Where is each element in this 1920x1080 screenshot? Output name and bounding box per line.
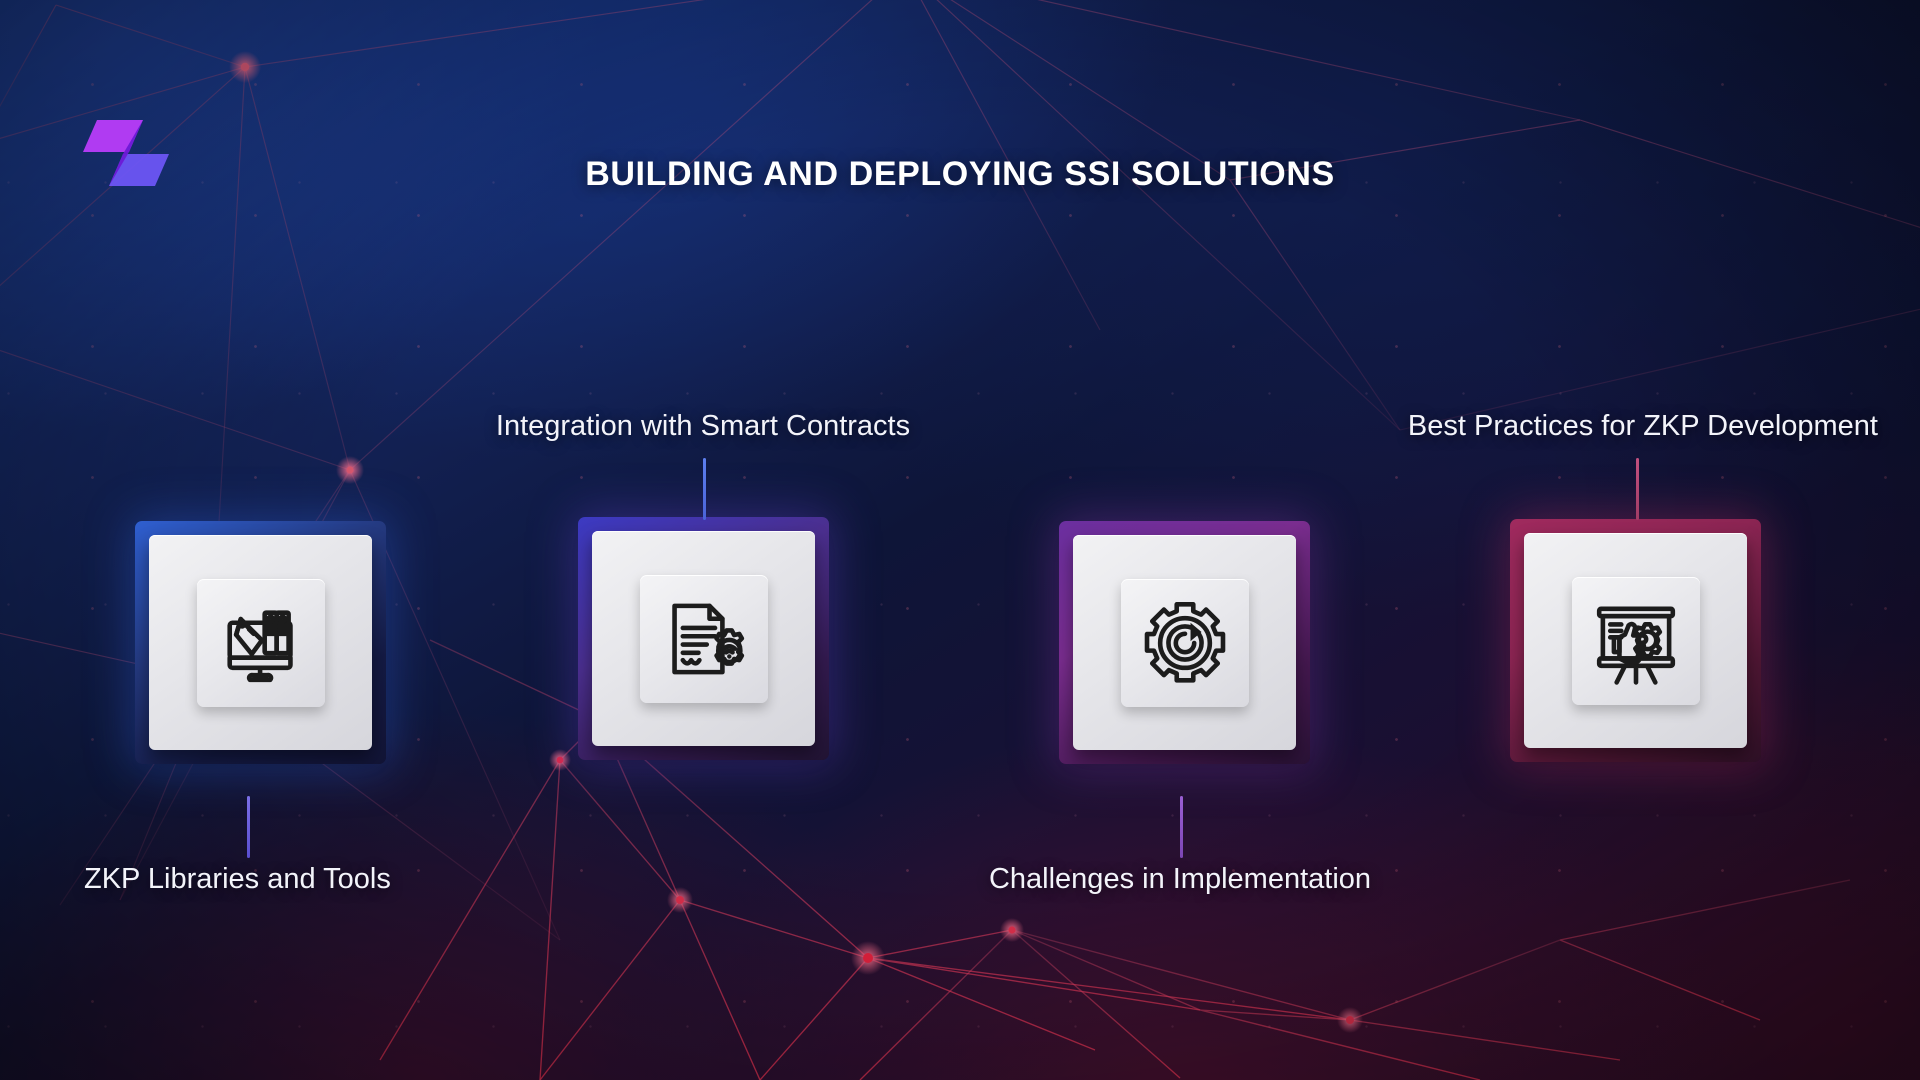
connector-line-integration-smart-contracts xyxy=(703,458,706,520)
connector-line-challenges-implementation xyxy=(1180,796,1183,858)
card-icon-tile xyxy=(197,579,325,707)
feature-card-best-practices-for-zkp-development[interactable] xyxy=(1510,519,1761,762)
feature-label-zkp-libraries-and-tools: ZKP Libraries and Tools xyxy=(84,863,391,896)
feature-label-integration-with-smart-contracts: Integration with Smart Contracts xyxy=(496,410,910,443)
card-inner-panel xyxy=(1524,533,1747,748)
slide-canvas: BUILDING AND DEPLOYING SSI SOLUTIONS xyxy=(0,0,1920,1080)
document-gear-wifi-icon xyxy=(658,593,750,685)
card-inner-panel xyxy=(149,535,372,750)
card-icon-tile xyxy=(1572,577,1700,705)
feature-label-best-practices-for-zkp-development: Best Practices for ZKP Development xyxy=(1408,410,1878,443)
connector-line-zkp-libraries xyxy=(247,796,250,858)
card-inner-panel xyxy=(1073,535,1296,750)
card-inner-panel xyxy=(592,531,815,746)
feature-card-challenges-in-implementation[interactable] xyxy=(1059,521,1310,764)
connector-line-best-practices-zkp xyxy=(1636,458,1639,520)
card-icon-tile xyxy=(1121,579,1249,707)
feature-card-zkp-libraries-and-tools[interactable] xyxy=(135,521,386,764)
gear-refresh-arrow-icon xyxy=(1139,597,1231,689)
card-icon-tile xyxy=(640,575,768,703)
presentation-board-thumbsup-gear-icon xyxy=(1590,595,1682,687)
feature-card-integration-with-smart-contracts[interactable] xyxy=(578,517,829,760)
feature-label-challenges-in-implementation: Challenges in Implementation xyxy=(989,863,1371,896)
page-title: BUILDING AND DEPLOYING SSI SOLUTIONS xyxy=(0,155,1920,194)
monitor-with-books-icon xyxy=(215,597,307,689)
